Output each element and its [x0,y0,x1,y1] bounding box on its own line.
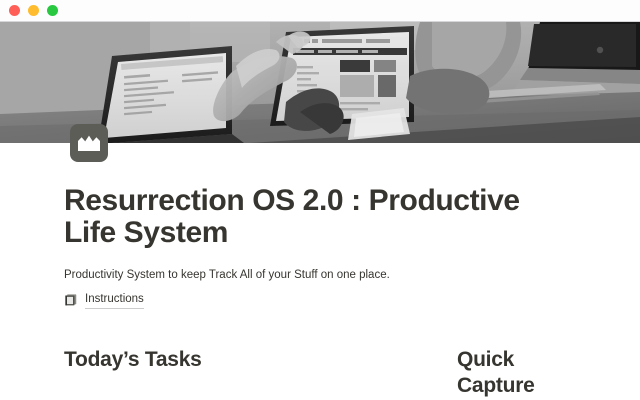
page-body: Resurrection OS 2.0 : Productive Life Sy… [0,185,640,399]
notebook-icon [64,293,78,307]
heading-quick-capture: Quick Capture [457,347,543,400]
instructions-link[interactable]: Instructions [64,292,144,309]
chart-zigzag-icon [78,135,100,151]
instructions-link-label: Instructions [85,292,144,309]
heading-todays-tasks: Today’s Tasks [64,347,457,373]
page-content: Resurrection OS 2.0 : Productive Life Sy… [0,22,640,400]
two-column-section: Today’s Tasks Quick Capture [64,347,576,400]
page-subtitle: Productivity System to keep Track All of… [64,267,576,284]
minimize-window-button[interactable] [28,5,39,16]
window-titlebar [0,0,640,22]
traffic-light-group [9,5,58,16]
app-window: Resurrection OS 2.0 : Productive Life Sy… [0,0,640,400]
column-quick-capture: Quick Capture [457,347,576,400]
page-icon[interactable] [70,124,108,162]
close-window-button[interactable] [9,5,20,16]
maximize-window-button[interactable] [47,5,58,16]
column-todays-tasks: Today’s Tasks [64,347,457,373]
page-title: Resurrection OS 2.0 : Productive Life Sy… [64,185,534,250]
